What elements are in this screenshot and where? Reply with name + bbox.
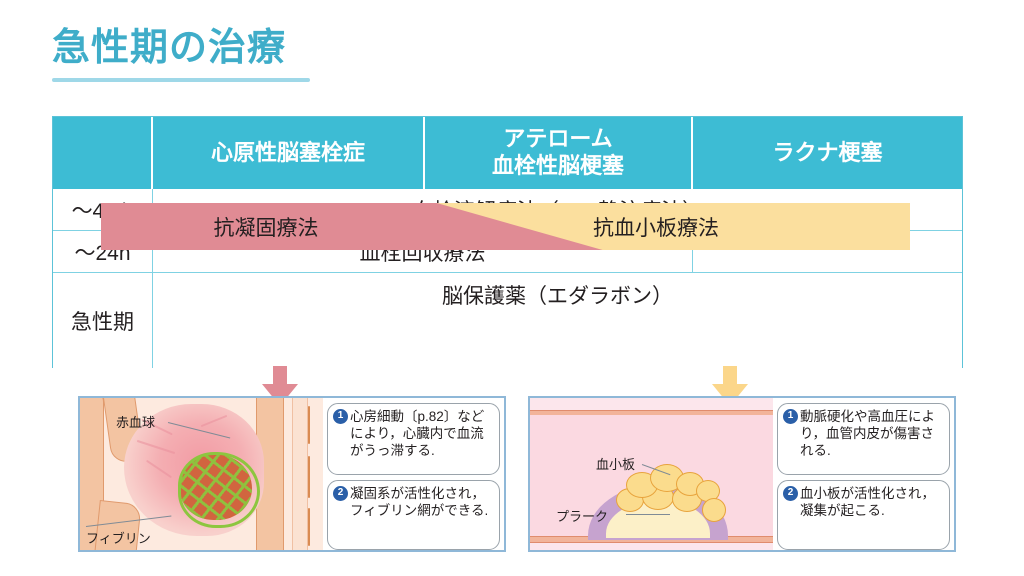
- cell-neuroprotective-text: 脳保護薬（エダラボン）: [153, 273, 962, 310]
- therapy-bands: 抗凝固療法 抗血小板療法: [101, 203, 910, 250]
- notes-atherothrombotic: 1 動脈硬化や高血圧により，血管内皮が傷害される. 2 血小板が活性化され，凝集…: [773, 398, 954, 550]
- note-number: 1: [783, 409, 798, 424]
- platelet: [702, 498, 726, 522]
- panel-atherothrombotic: 血小板 プラーク 1 動脈硬化や高血圧により，血管内皮が傷害される. 2 血小板…: [528, 396, 956, 552]
- note-item: 2 血小板が活性化され，凝集が起こる.: [777, 480, 950, 550]
- notes-cardioembolic: 1 心房細動〔p.82〕などにより，心臓内で血流がうっ滞する. 2 凝固系が活性…: [323, 398, 504, 550]
- note-number: 2: [333, 486, 348, 501]
- leader-line-plaque: [626, 514, 670, 515]
- panel-cardioembolic: 赤血球 フィブリン 1 心房細動〔p.82〕などにより，心臓内で血流がうっ滞する…: [78, 396, 506, 552]
- note-item: 2 凝固系が活性化され，フィブリン網ができる.: [327, 480, 500, 550]
- title-underline: [52, 78, 310, 82]
- table-header-corner: [53, 117, 153, 189]
- note-item: 1 動脈硬化や高血圧により，血管内皮が傷害される.: [777, 403, 950, 475]
- note-text: 動脈硬化や高血圧により，血管内皮が傷害される.: [800, 408, 944, 459]
- illustration-label-plaque: プラーク: [556, 506, 608, 525]
- antiplatelet-band-label: 抗血小板療法: [571, 203, 741, 250]
- illustration-label-platelet: 血小板: [596, 454, 635, 473]
- illustration-label-fibrin: フィブリン: [86, 528, 151, 547]
- heart-wall-right-outer: [292, 398, 308, 550]
- note-number: 1: [333, 409, 348, 424]
- note-item: 1 心房細動〔p.82〕などにより，心臓内で血流がうっ滞する.: [327, 403, 500, 475]
- table-header-atherothrombotic: アテローム 血栓性脳梗塞: [425, 117, 693, 189]
- anticoagulant-band-label: 抗凝固療法: [191, 203, 341, 250]
- illustration-label-rbc: 赤血球: [116, 412, 155, 431]
- thrombus-outline: [178, 452, 260, 528]
- illustration-heart-thrombus: 赤血球 フィブリン: [80, 398, 323, 550]
- note-text: 凝固系が活性化され，フィブリン網ができる.: [350, 485, 494, 519]
- note-number: 2: [783, 486, 798, 501]
- table-row: 急性期 脳保護薬（エダラボン）: [53, 273, 962, 368]
- table-header-lacunar: ラクナ梗塞: [693, 117, 962, 189]
- row-label-acute: 急性期: [53, 273, 153, 368]
- page-title: 急性期の治療: [52, 28, 286, 70]
- cell-neuroprotective: 脳保護薬（エダラボン）: [153, 273, 962, 368]
- vessel-squiggle: [308, 456, 310, 498]
- illustration-plaque-platelets: 血小板 プラーク: [530, 398, 773, 550]
- table-header-athero-line1: アテローム: [492, 126, 624, 153]
- note-text: 心房細動〔p.82〕などにより，心臓内で血流がうっ滞する.: [350, 408, 494, 459]
- vessel-squiggle: [308, 508, 310, 546]
- note-text: 血小板が活性化され，凝集が起こる.: [800, 485, 944, 519]
- table-header-cardioembolic: 心原性脳塞栓症: [153, 117, 425, 189]
- table-header-row: 心原性脳塞栓症 アテローム 血栓性脳梗塞 ラクナ梗塞: [53, 117, 962, 189]
- vessel-squiggle: [308, 406, 310, 444]
- table-header-athero-line2: 血栓性脳梗塞: [492, 153, 624, 180]
